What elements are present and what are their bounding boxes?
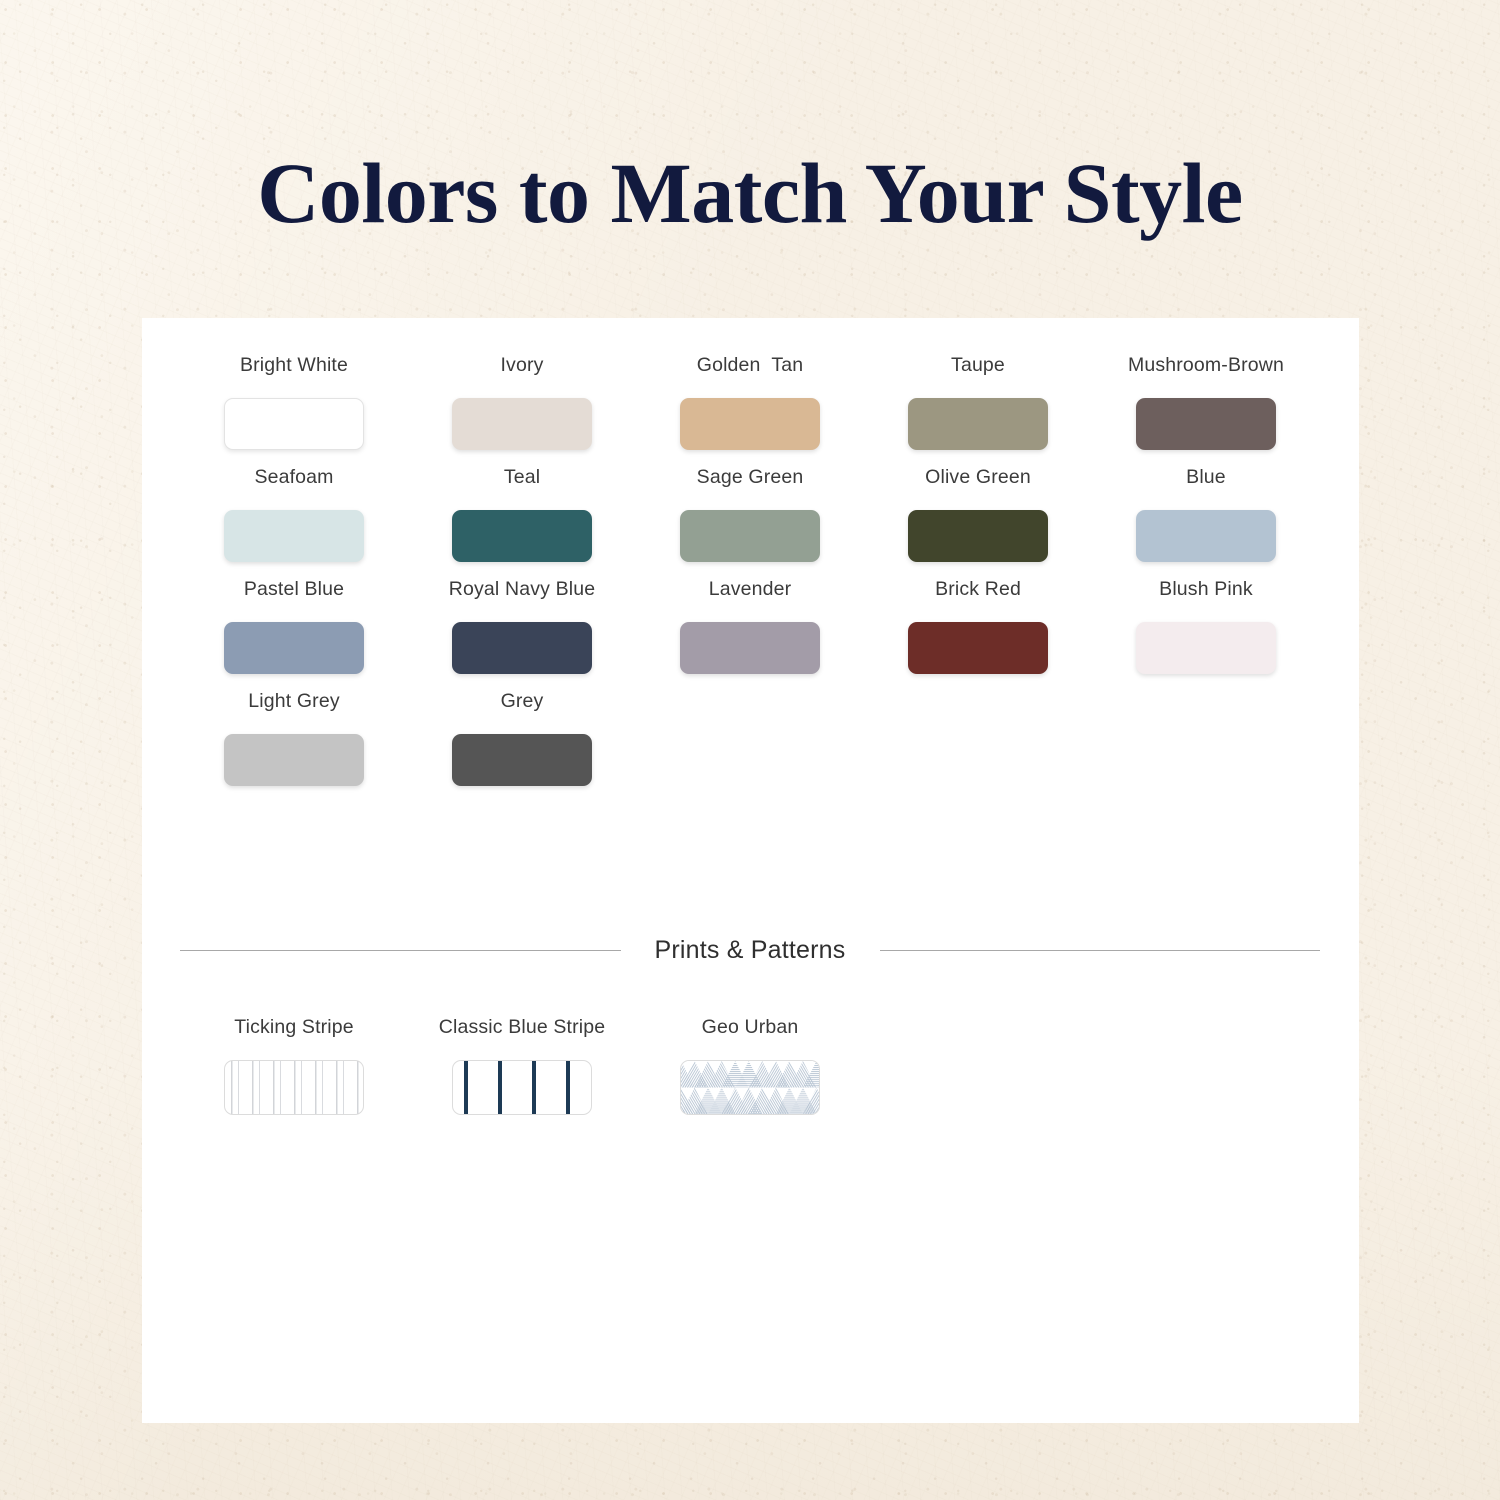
color-swatch-label: Teal xyxy=(504,468,540,488)
color-chip-lavender[interactable] xyxy=(680,622,820,674)
pattern-swatch-classic-blue-stripe[interactable]: Classic Blue Stripe xyxy=(408,1018,636,1115)
prints-and-patterns-heading: Prints & Patterns xyxy=(655,938,846,963)
color-swatch-label: Olive Green xyxy=(925,468,1031,488)
color-swatch-golden-tan[interactable]: Golden Tan xyxy=(636,356,864,468)
color-chip-grey[interactable] xyxy=(452,734,592,786)
color-swatch-label: Ivory xyxy=(500,356,543,376)
color-swatch-lavender[interactable]: Lavender xyxy=(636,580,864,692)
color-swatch-label: Bright White xyxy=(240,356,348,376)
color-swatch-label: Seafoam xyxy=(254,468,333,488)
pattern-swatch-label: Geo Urban xyxy=(702,1018,799,1038)
color-chip-light-grey[interactable] xyxy=(224,734,364,786)
color-swatch-label: Blue xyxy=(1186,468,1226,488)
color-swatch-grid: Bright WhiteIvoryGolden TanTaupeMushroom… xyxy=(180,356,1320,804)
page-title: Colors to Match Your Style xyxy=(0,148,1500,238)
color-swatch-label: Golden Tan xyxy=(697,356,803,376)
color-swatch-pastel-blue[interactable]: Pastel Blue xyxy=(180,580,408,692)
color-swatch-label: Blush Pink xyxy=(1159,580,1253,600)
swatch-card: Bright WhiteIvoryGolden TanTaupeMushroom… xyxy=(142,318,1359,1423)
color-chip-taupe[interactable] xyxy=(908,398,1048,450)
color-chip-bright-white[interactable] xyxy=(224,398,364,450)
color-swatch-ivory[interactable]: Ivory xyxy=(408,356,636,468)
color-swatch-brick-red[interactable]: Brick Red xyxy=(864,580,1092,692)
color-chip-golden-tan[interactable] xyxy=(680,398,820,450)
color-swatch-label: Royal Navy Blue xyxy=(449,580,595,600)
color-swatch-label: Mushroom-Brown xyxy=(1128,356,1284,376)
color-swatch-label: Light Grey xyxy=(248,692,339,712)
color-chip-olive-green[interactable] xyxy=(908,510,1048,562)
color-swatch-label: Pastel Blue xyxy=(244,580,344,600)
color-swatch-taupe[interactable]: Taupe xyxy=(864,356,1092,468)
color-chip-royal-navy-blue[interactable] xyxy=(452,622,592,674)
color-swatch-label: Lavender xyxy=(709,580,792,600)
pattern-swatch-label: Ticking Stripe xyxy=(234,1018,354,1038)
divider-rule-left xyxy=(180,950,621,951)
prints-and-patterns-divider: Prints & Patterns xyxy=(180,938,1320,963)
color-swatch-blush-pink[interactable]: Blush Pink xyxy=(1092,580,1320,692)
color-swatch-sage-green[interactable]: Sage Green xyxy=(636,468,864,580)
color-swatch-teal[interactable]: Teal xyxy=(408,468,636,580)
color-swatch-label: Grey xyxy=(501,692,544,712)
color-swatch-light-grey[interactable]: Light Grey xyxy=(180,692,408,804)
pattern-swatch-label: Classic Blue Stripe xyxy=(439,1018,606,1038)
pattern-swatch-grid: Ticking StripeClassic Blue StripeGeo Urb… xyxy=(180,1018,1320,1115)
color-chip-blue[interactable] xyxy=(1136,510,1276,562)
color-chip-brick-red[interactable] xyxy=(908,622,1048,674)
pattern-chip-ticking-stripe[interactable] xyxy=(224,1060,364,1115)
pattern-chip-geo-urban[interactable] xyxy=(680,1060,820,1115)
divider-rule-right xyxy=(880,950,1321,951)
color-chip-pastel-blue[interactable] xyxy=(224,622,364,674)
pattern-swatch-ticking-stripe[interactable]: Ticking Stripe xyxy=(180,1018,408,1115)
color-swatch-label: Sage Green xyxy=(697,468,804,488)
color-swatch-olive-green[interactable]: Olive Green xyxy=(864,468,1092,580)
color-swatch-royal-navy-blue[interactable]: Royal Navy Blue xyxy=(408,580,636,692)
color-swatch-label: Taupe xyxy=(951,356,1005,376)
color-swatch-label: Brick Red xyxy=(935,580,1021,600)
color-swatch-grey[interactable]: Grey xyxy=(408,692,636,804)
color-swatch-mushroom-brown[interactable]: Mushroom-Brown xyxy=(1092,356,1320,468)
color-chip-teal[interactable] xyxy=(452,510,592,562)
color-chip-ivory[interactable] xyxy=(452,398,592,450)
color-swatch-seafoam[interactable]: Seafoam xyxy=(180,468,408,580)
color-chip-sage-green[interactable] xyxy=(680,510,820,562)
color-swatch-bright-white[interactable]: Bright White xyxy=(180,356,408,468)
color-chip-mushroom-brown[interactable] xyxy=(1136,398,1276,450)
color-chip-seafoam[interactable] xyxy=(224,510,364,562)
pattern-chip-classic-blue-stripe[interactable] xyxy=(452,1060,592,1115)
color-swatch-blue[interactable]: Blue xyxy=(1092,468,1320,580)
color-chip-blush-pink[interactable] xyxy=(1136,622,1276,674)
pattern-swatch-geo-urban[interactable]: Geo Urban xyxy=(636,1018,864,1115)
